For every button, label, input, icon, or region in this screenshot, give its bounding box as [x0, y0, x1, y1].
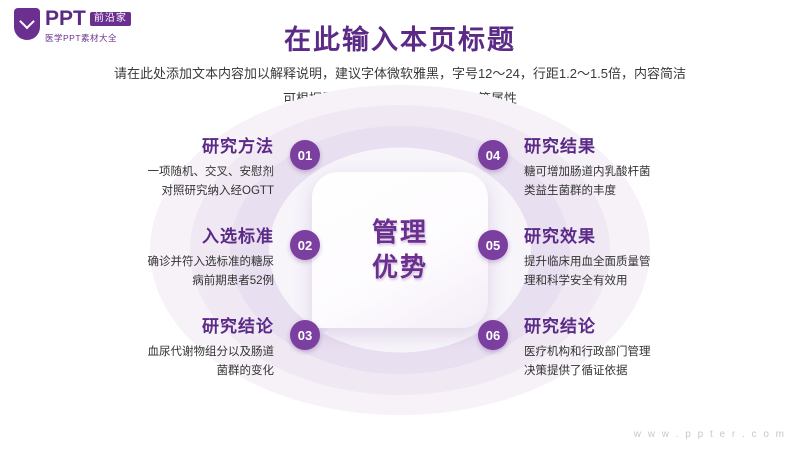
- item-heading: 研究方法: [28, 132, 274, 157]
- center-card: 管理 优势: [312, 172, 488, 328]
- item-number-badge: 04: [478, 140, 508, 170]
- center-card-text: 管理 优势: [372, 215, 428, 285]
- list-item[interactable]: 06 研究结论 医疗机构和行政部门管理决策提供了循证依据: [520, 312, 770, 381]
- list-item[interactable]: 03 研究结论 血尿代谢物组分以及肠道菌群的变化: [28, 312, 278, 381]
- item-body: 血尿代谢物组分以及肠道菌群的变化: [28, 343, 274, 381]
- item-heading: 研究效果: [524, 222, 770, 247]
- site-watermark: w w w . p p t e r . c o m: [634, 429, 786, 440]
- item-number-badge: 03: [290, 320, 320, 350]
- center-line-1: 管理: [372, 215, 428, 250]
- item-number-badge: 02: [290, 230, 320, 260]
- item-body: 医疗机构和行政部门管理决策提供了循证依据: [524, 343, 770, 381]
- item-body: 确诊并符入选标准的糖尿病前期患者52例: [28, 253, 274, 291]
- page-title: 在此输入本页标题: [0, 18, 800, 57]
- item-number-badge: 05: [478, 230, 508, 260]
- list-item[interactable]: 04 研究结果 糖可增加肠道内乳酸杆菌类益生菌群的丰度: [520, 132, 770, 201]
- list-item[interactable]: 02 入选标准 确诊并符入选标准的糖尿病前期患者52例: [28, 222, 278, 291]
- center-line-2: 优势: [372, 250, 428, 285]
- item-body: 提升临床用血全面质量管理和科学安全有效用: [524, 253, 770, 291]
- item-heading: 研究结果: [524, 132, 770, 157]
- item-number-badge: 01: [290, 140, 320, 170]
- item-heading: 研究结论: [28, 312, 274, 337]
- item-number-badge: 06: [478, 320, 508, 350]
- item-heading: 入选标准: [28, 222, 274, 247]
- list-item[interactable]: 01 研究方法 一项随机、交叉、安慰剂对照研究纳入经OGTT: [28, 132, 278, 201]
- list-item[interactable]: 05 研究效果 提升临床用血全面质量管理和科学安全有效用: [520, 222, 770, 291]
- subtitle-line-1: 请在此处添加文本内容加以解释说明，建议字体微软雅黑，字号12～24，行距1.2～…: [0, 62, 800, 87]
- item-heading: 研究结论: [524, 312, 770, 337]
- item-body: 一项随机、交叉、安慰剂对照研究纳入经OGTT: [28, 163, 274, 201]
- item-body: 糖可增加肠道内乳酸杆菌类益生菌群的丰度: [524, 163, 770, 201]
